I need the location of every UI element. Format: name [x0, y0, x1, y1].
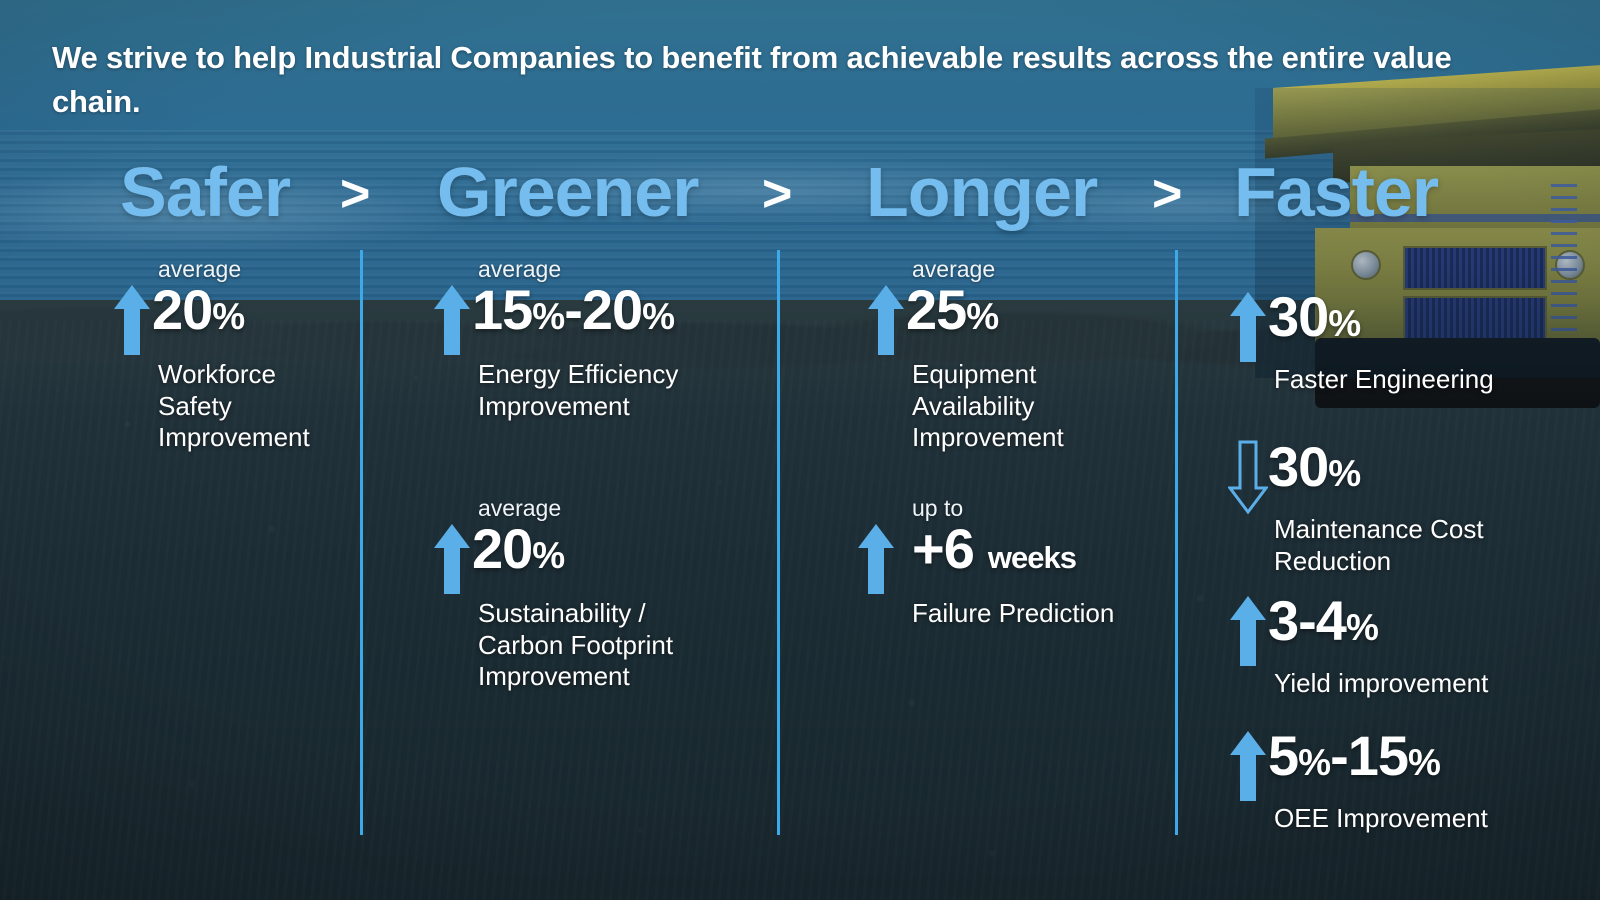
infographic-slide: We strive to help Industrial Companies t…	[0, 0, 1600, 900]
metric-value: 3-4%	[1268, 592, 1378, 649]
metric-sustainability-carbon-footprint: average 20% Sustainability / Carbon Foot…	[432, 497, 673, 693]
metric-percent-sign: %	[1346, 607, 1378, 648]
column-title-greener: Greener	[437, 157, 698, 227]
metric-caption: Sustainability / Carbon Footprint Improv…	[478, 598, 673, 693]
arrow-up-icon	[1228, 594, 1268, 668]
column-divider-3	[1175, 250, 1178, 835]
metric-percent-sign: %	[1298, 742, 1330, 783]
metric-percent-sign-2: %	[1408, 742, 1440, 783]
metric-unit: weeks	[988, 540, 1076, 575]
column-title-longer: Longer	[866, 157, 1097, 227]
metric-percent-sign-2: %	[642, 296, 674, 337]
chevron-right-icon-2: >	[762, 168, 792, 220]
metric-value: 25%	[906, 281, 998, 338]
metric-maintenance-cost-reduction: 30% Maintenance Cost Reduction	[1228, 438, 1484, 577]
arrow-up-icon	[866, 283, 906, 357]
metric-oee-improvement: 5%-15% OEE Improvement	[1228, 727, 1488, 835]
arrow-up-icon	[1228, 729, 1268, 803]
metric-value: +6weeks	[912, 520, 1076, 577]
metric-value: 20%	[152, 281, 244, 338]
metric-caption: Yield improvement	[1274, 668, 1488, 700]
metric-value: 5%-15%	[1268, 727, 1440, 784]
arrow-up-icon	[856, 522, 896, 596]
metric-caption: OEE Improvement	[1274, 803, 1488, 835]
arrow-down-icon	[1228, 440, 1268, 514]
metric-yield-improvement: 3-4% Yield improvement	[1228, 592, 1488, 700]
metric-equipment-availability: average 25% Equipment Availability Impro…	[866, 258, 1064, 454]
chevron-right-icon-3: >	[1152, 168, 1182, 220]
metric-percent-sign: %	[1328, 303, 1360, 344]
page-title: We strive to help Industrial Companies t…	[52, 36, 1492, 124]
metric-caption: Faster Engineering	[1274, 364, 1494, 396]
chevron-right-icon-1: >	[340, 168, 370, 220]
column-divider-2	[777, 250, 780, 835]
metric-percent-sign: %	[966, 296, 998, 337]
metric-percent-sign: %	[1328, 453, 1360, 494]
metric-value: 30%	[1268, 288, 1360, 345]
arrow-up-icon	[432, 283, 472, 357]
metric-value: 20%	[472, 520, 564, 577]
column-title-safer: Safer	[120, 157, 290, 227]
arrow-up-icon	[112, 283, 152, 357]
metric-percent-sign: %	[532, 296, 564, 337]
metric-caption: Workforce Safety Improvement	[158, 359, 310, 454]
arrow-up-icon	[1228, 290, 1268, 364]
metric-caption: Maintenance Cost Reduction	[1274, 514, 1484, 577]
metric-caption: Energy Efficiency Improvement	[478, 359, 678, 422]
metric-percent-sign: %	[532, 535, 564, 576]
arrow-up-icon	[432, 522, 472, 596]
metric-caption: Failure Prediction	[912, 598, 1114, 630]
column-title-faster: Faster	[1234, 157, 1438, 227]
metric-energy-efficiency: average 15%-20% Energy Efficiency Improv…	[432, 258, 678, 422]
metric-value: 15%-20%	[472, 281, 674, 338]
metric-value: 30%	[1268, 438, 1360, 495]
column-divider-1	[360, 250, 363, 835]
metric-faster-engineering: 30% Faster Engineering	[1228, 288, 1494, 396]
metric-percent-sign: %	[212, 296, 244, 337]
metric-workforce-safety: average 20% Workforce Safety Improvement	[112, 258, 310, 454]
metric-caption: Equipment Availability Improvement	[912, 359, 1064, 454]
metric-failure-prediction: up to +6weeks Failure Prediction	[856, 497, 1114, 630]
